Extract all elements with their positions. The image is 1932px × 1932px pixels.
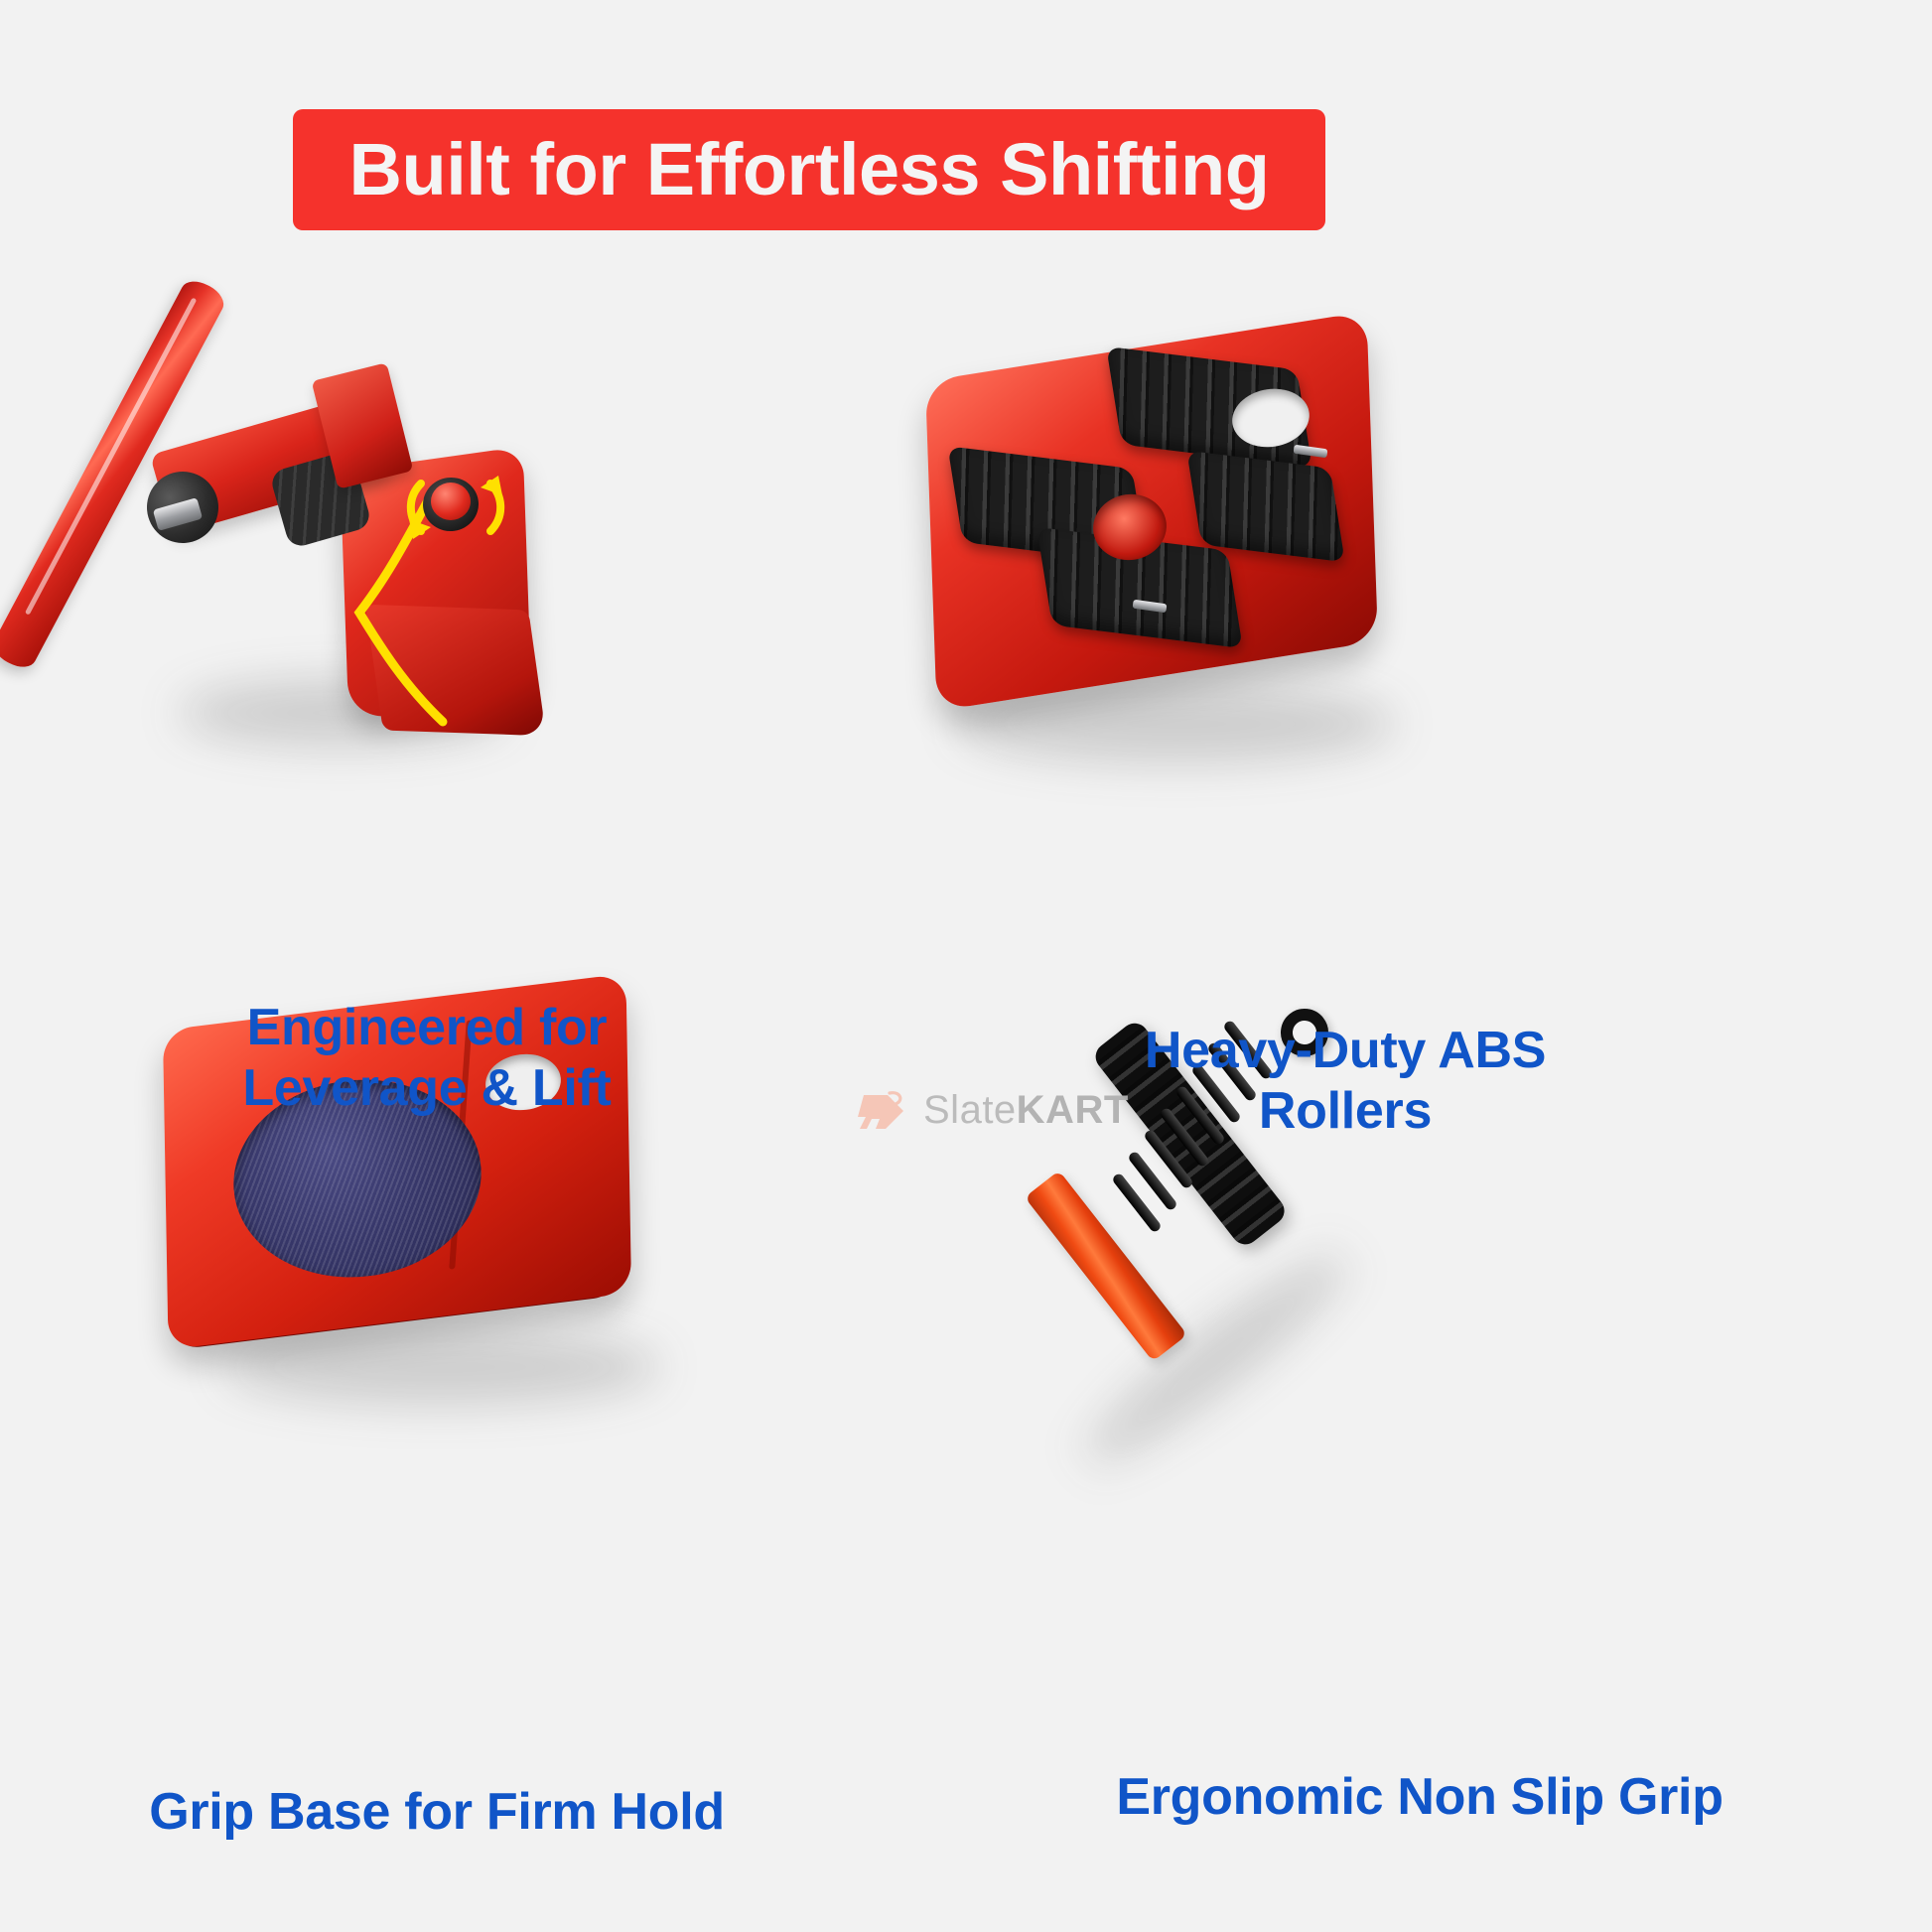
page-title: Built for Effortless Shifting <box>349 133 1270 207</box>
product-image-abs-rollers <box>898 328 1454 784</box>
brand-watermark-text: SlateKART <box>923 1088 1129 1133</box>
feature-caption-non-slip-grip: Ergonomic Non Slip Grip <box>1102 1767 1737 1828</box>
header-banner: Built for Effortless Shifting <box>293 109 1325 230</box>
brand-name-light: Slate <box>923 1088 1017 1132</box>
lifter-pivot-knob <box>431 483 471 520</box>
brand-name-bold: KART <box>1017 1088 1129 1132</box>
product-image-leverage-lift <box>149 283 616 750</box>
feature-caption-abs-rollers: Heavy-Duty ABS Rollers <box>1112 1021 1579 1143</box>
brand-watermark: SlateKART <box>856 1088 1129 1133</box>
drop-shadow <box>223 1330 660 1404</box>
lifter-head-face <box>365 605 546 736</box>
feature-caption-leverage-lift: Engineered for Leverage & Lift <box>169 998 685 1120</box>
price-tag-icon <box>856 1089 909 1133</box>
feature-caption-grip-base: Grip Base for Firm Hold <box>109 1782 764 1843</box>
